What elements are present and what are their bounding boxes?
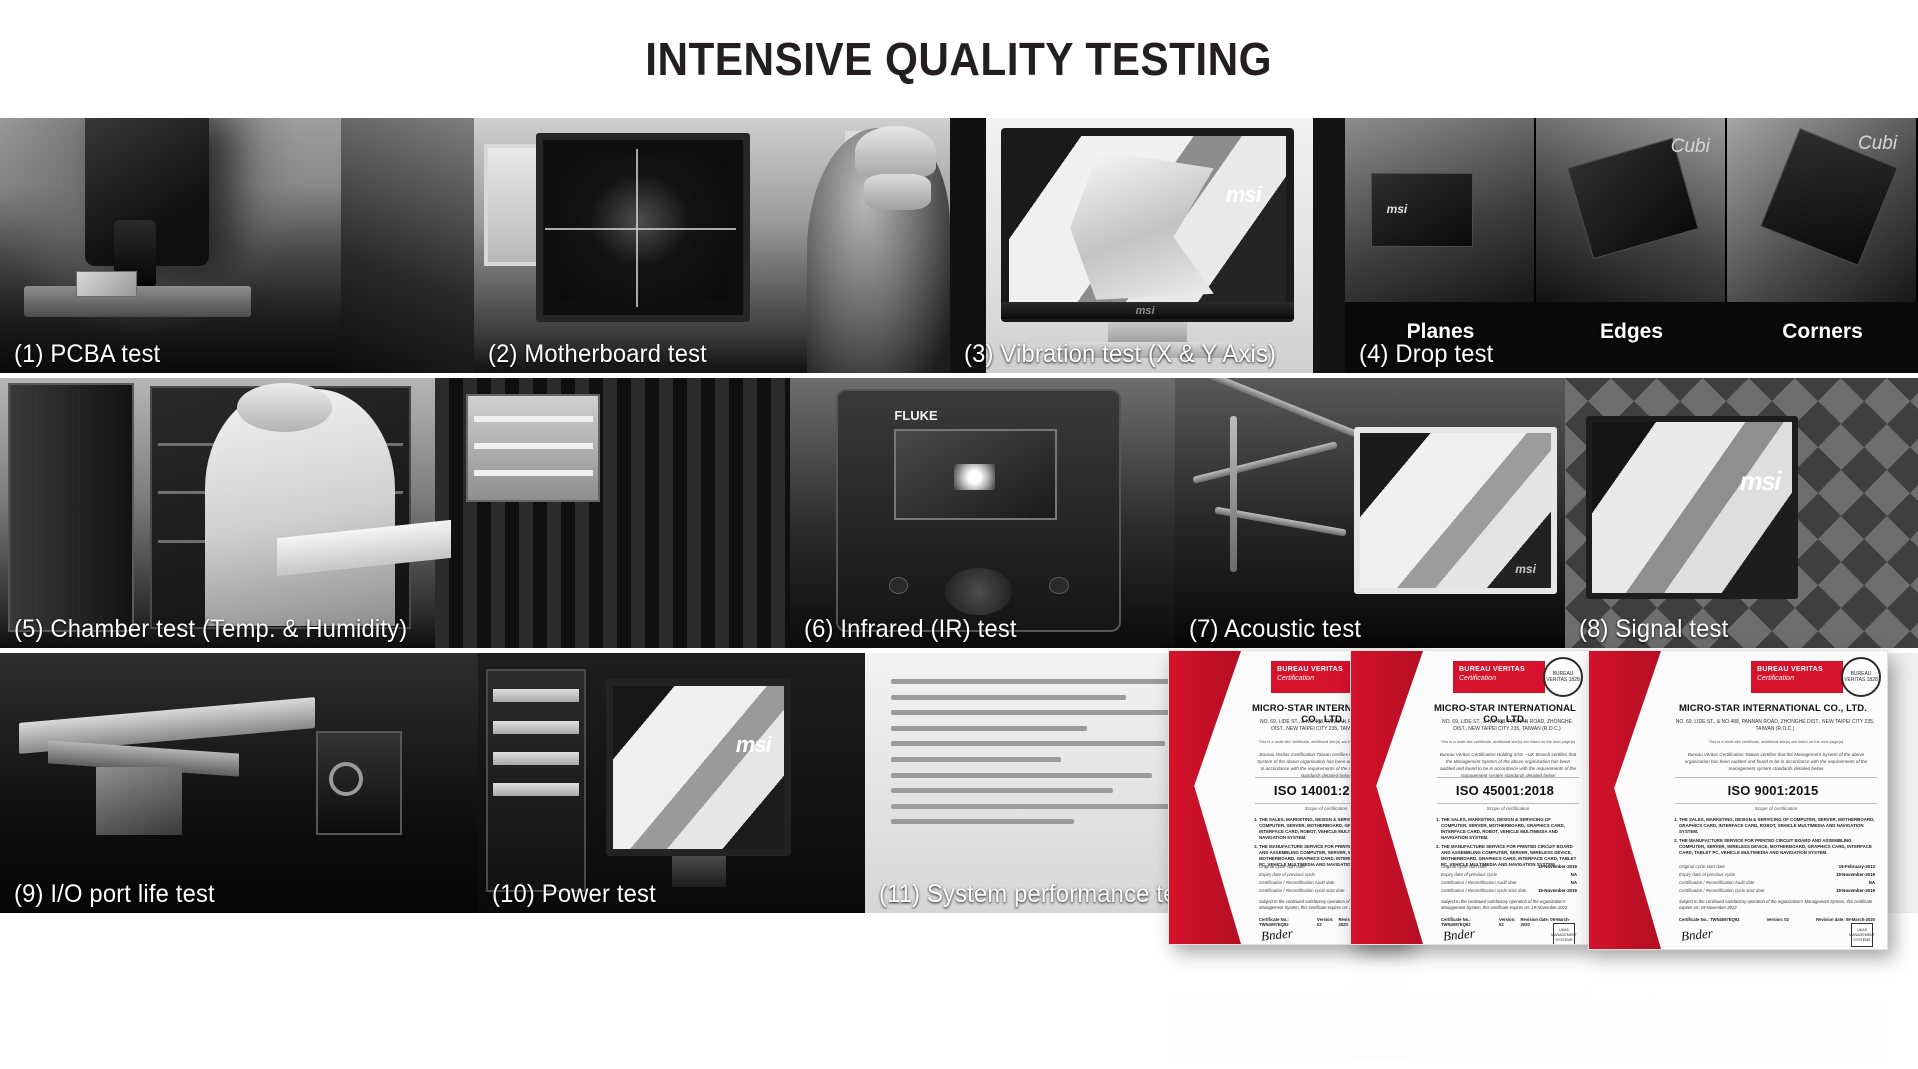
cert-red-swoosh-2 xyxy=(1350,651,1423,944)
test-panel-io-port[interactable]: (9) I/O port life test xyxy=(0,653,478,913)
caption-acoustic: (7) Acoustic test xyxy=(1189,615,1361,644)
caption-vibration: (3) Vibration test (X & Y Axis) xyxy=(964,340,1276,369)
caption-infrared: (6) Infrared (IR) test xyxy=(804,615,1017,644)
table-row: Original cycle start date19-February-201… xyxy=(1679,863,1875,871)
bureau-veritas-seal-icon-2: BUREAU VERITAS 1828 xyxy=(1543,657,1583,697)
cert-scope-item: THE SALES, MARKETING, DESIGN & SERVICING… xyxy=(1679,817,1875,835)
cert-divider-bottom-3 xyxy=(1675,803,1877,804)
table-row: Original cycle start date19-November-201… xyxy=(1441,863,1577,871)
cert-dates-table-3: Original cycle start date19-February-201… xyxy=(1679,863,1875,895)
cubi-label-2: Cubi xyxy=(1858,133,1897,155)
table-row: Certification / Recertification cycle st… xyxy=(1679,887,1875,895)
cert-scope-title-2: Scope of certification xyxy=(1437,806,1579,811)
signal-test-photo: msi xyxy=(1565,378,1918,648)
test-panel-drop[interactable]: msi Cubi Cubi Planes Edges Corners (4) D… xyxy=(1345,118,1918,373)
chamber-test-photo xyxy=(0,378,790,648)
infrared-test-photo: FLUKE 25.3°C xyxy=(790,378,1175,648)
cert-address-2: NO. 69, LIDE ST., & NO.488, PANNAN ROAD,… xyxy=(1435,719,1579,733)
test-panel-vibration[interactable]: msi msi (3) Vibration test (X & Y Axis) xyxy=(950,118,1345,373)
caption-motherboard: (2) Motherboard test xyxy=(488,340,707,369)
page-header: INTENSIVE QUALITY TESTING xyxy=(0,0,1918,118)
io-port-test-photo xyxy=(0,653,478,913)
cert-scope-list-3: THE SALES, MARKETING, DESIGN & SERVICING… xyxy=(1679,817,1875,859)
table-row: Certification / Recertification Audit da… xyxy=(1441,879,1577,887)
cert-reflection-3 xyxy=(1588,955,1888,1065)
msi-logo-acoustic: msi xyxy=(1515,562,1536,576)
cert-expiry-note-3: Subject to the continued satisfactory op… xyxy=(1679,899,1875,911)
cert-divider-top-3 xyxy=(1675,777,1877,778)
cert-number-row-3: Certificate No.: TWN4097EQ92 Version: 02… xyxy=(1679,917,1875,922)
cert-address-3: NO. 69, LIDE ST., & NO.488, PANNAN ROAD,… xyxy=(1673,719,1877,733)
msi-logo-power: msi xyxy=(736,732,771,758)
cert-standard-2: ISO 45001:2018 xyxy=(1429,783,1581,798)
caption-pcba: (1) PCBA test xyxy=(14,340,160,369)
caption-signal: (8) Signal test xyxy=(1579,615,1728,644)
test-panel-infrared[interactable]: FLUKE 25.3°C (6) Infrared (IR) test xyxy=(790,378,1175,648)
test-panel-chamber[interactable]: (5) Chamber test (Temp. & Humidity) xyxy=(0,378,790,648)
caption-system-performance: (11) System performance test xyxy=(879,880,1195,909)
cert-multisite-note-3: This is a multi-site certificate, additi… xyxy=(1677,739,1875,745)
vibration-test-photo: msi msi xyxy=(950,118,1345,373)
cert-reflection-1 xyxy=(1168,950,1408,1060)
cert-signature-1: Bnder xyxy=(1260,925,1293,944)
cert-standard-3: ISO 9001:2015 xyxy=(1667,783,1879,798)
msi-logo-bezel: msi xyxy=(1136,305,1155,317)
test-panel-power[interactable]: msi (10) Power test xyxy=(478,653,865,913)
drop-label-edges: Edges xyxy=(1536,320,1727,344)
acoustic-test-photo: msi xyxy=(1175,378,1565,648)
cert-body-text-3: Bureau Veritas Certification Taiwan cert… xyxy=(1677,751,1875,772)
cert-red-swoosh-1 xyxy=(1168,651,1241,944)
bureau-veritas-seal-icon-3: BUREAU VERITAS 1828 xyxy=(1841,657,1881,697)
msi-logo-box-1: msi xyxy=(1387,202,1408,216)
cert-multisite-note-2: This is a multi-site certificate, additi… xyxy=(1439,739,1577,745)
cert-expiry-note-2: Subject to the continued satisfactory op… xyxy=(1441,899,1577,911)
cert-scope-title-3: Scope of certification xyxy=(1675,806,1877,811)
power-test-photo: msi xyxy=(478,653,865,913)
cert-red-swoosh-3 xyxy=(1588,651,1661,949)
test-panel-acoustic[interactable]: msi (7) Acoustic test xyxy=(1175,378,1565,648)
caption-chamber: (5) Chamber test (Temp. & Humidity) xyxy=(14,615,407,644)
certificates-group: BUREAU VERITAS Certification BUREAU VERI… xyxy=(1168,650,1918,1069)
cubi-label-1: Cubi xyxy=(1671,136,1710,158)
cert-signature-2: Bnder xyxy=(1442,925,1475,944)
certificate-iso-9001[interactable]: BUREAU VERITAS Certification BUREAU VERI… xyxy=(1588,650,1888,950)
cert-signature-3: Bnder xyxy=(1680,925,1713,944)
caption-io-port: (9) I/O port life test xyxy=(14,880,215,909)
fluke-brand-label: FLUKE xyxy=(894,408,937,423)
ukas-accreditation-icon-3: UKAS MANAGEMENT SYSTEMS xyxy=(1851,923,1873,947)
table-row: Certification / Recertification Audit da… xyxy=(1679,879,1875,887)
drop-label-corners: Corners xyxy=(1727,320,1918,344)
drop-test-photo: msi Cubi Cubi Planes Edges Corners xyxy=(1345,118,1918,373)
cert-company-name-3: MICRO-STAR INTERNATIONAL CO., LTD. xyxy=(1667,703,1879,714)
cert-scope-item: THE MANUFACTURE SERVICE FOR PRINTED CIRC… xyxy=(1679,838,1875,856)
test-row-1: (1) PCBA test (2) Motherboard test xyxy=(0,118,1918,373)
cert-dates-table-2: Original cycle start date19-November-201… xyxy=(1441,863,1577,895)
cert-divider-top-2 xyxy=(1437,777,1579,778)
caption-drop: (4) Drop test xyxy=(1359,340,1493,369)
table-row: Certification / Recertification cycle st… xyxy=(1441,887,1577,895)
cert-divider-bottom-2 xyxy=(1437,803,1579,804)
bureau-veritas-logo-2: BUREAU VERITAS Certification xyxy=(1453,661,1545,693)
cert-body-text-2: Bureau Veritas Certification Holding SAS… xyxy=(1439,751,1577,779)
msi-logo-signal: msi xyxy=(1740,466,1780,497)
certificate-iso-45001[interactable]: BUREAU VERITAS Certification BUREAU VERI… xyxy=(1350,650,1590,945)
test-panel-motherboard[interactable]: (2) Motherboard test xyxy=(474,118,950,373)
caption-power: (10) Power test xyxy=(492,880,656,909)
ukas-accreditation-icon-2: UKAS MANAGEMENT SYSTEMS xyxy=(1553,923,1575,945)
bureau-veritas-logo-3: BUREAU VERITAS Certification xyxy=(1751,661,1843,693)
test-row-2: (5) Chamber test (Temp. & Humidity) FLUK… xyxy=(0,378,1918,648)
cert-scope-item: THE SALES, MARKETING, DESIGN & SERVICING… xyxy=(1441,817,1577,841)
msi-logo-screen: msi xyxy=(1226,182,1261,208)
motherboard-test-photo xyxy=(474,118,950,373)
table-row: Expiry date of previous cycleNA xyxy=(1441,871,1577,879)
cert-reflection-2 xyxy=(1350,950,1590,1060)
test-panel-signal[interactable]: msi (8) Signal test xyxy=(1565,378,1918,648)
page-title: INTENSIVE QUALITY TESTING xyxy=(646,32,1273,86)
table-row: Expiry date of previous cycle19-November… xyxy=(1679,871,1875,879)
quality-testing-page: INTENSIVE QUALITY TESTING (1) PCBA test xyxy=(0,0,1918,1069)
test-panel-pcba[interactable]: (1) PCBA test xyxy=(0,118,474,373)
pcba-test-photo xyxy=(0,118,474,373)
